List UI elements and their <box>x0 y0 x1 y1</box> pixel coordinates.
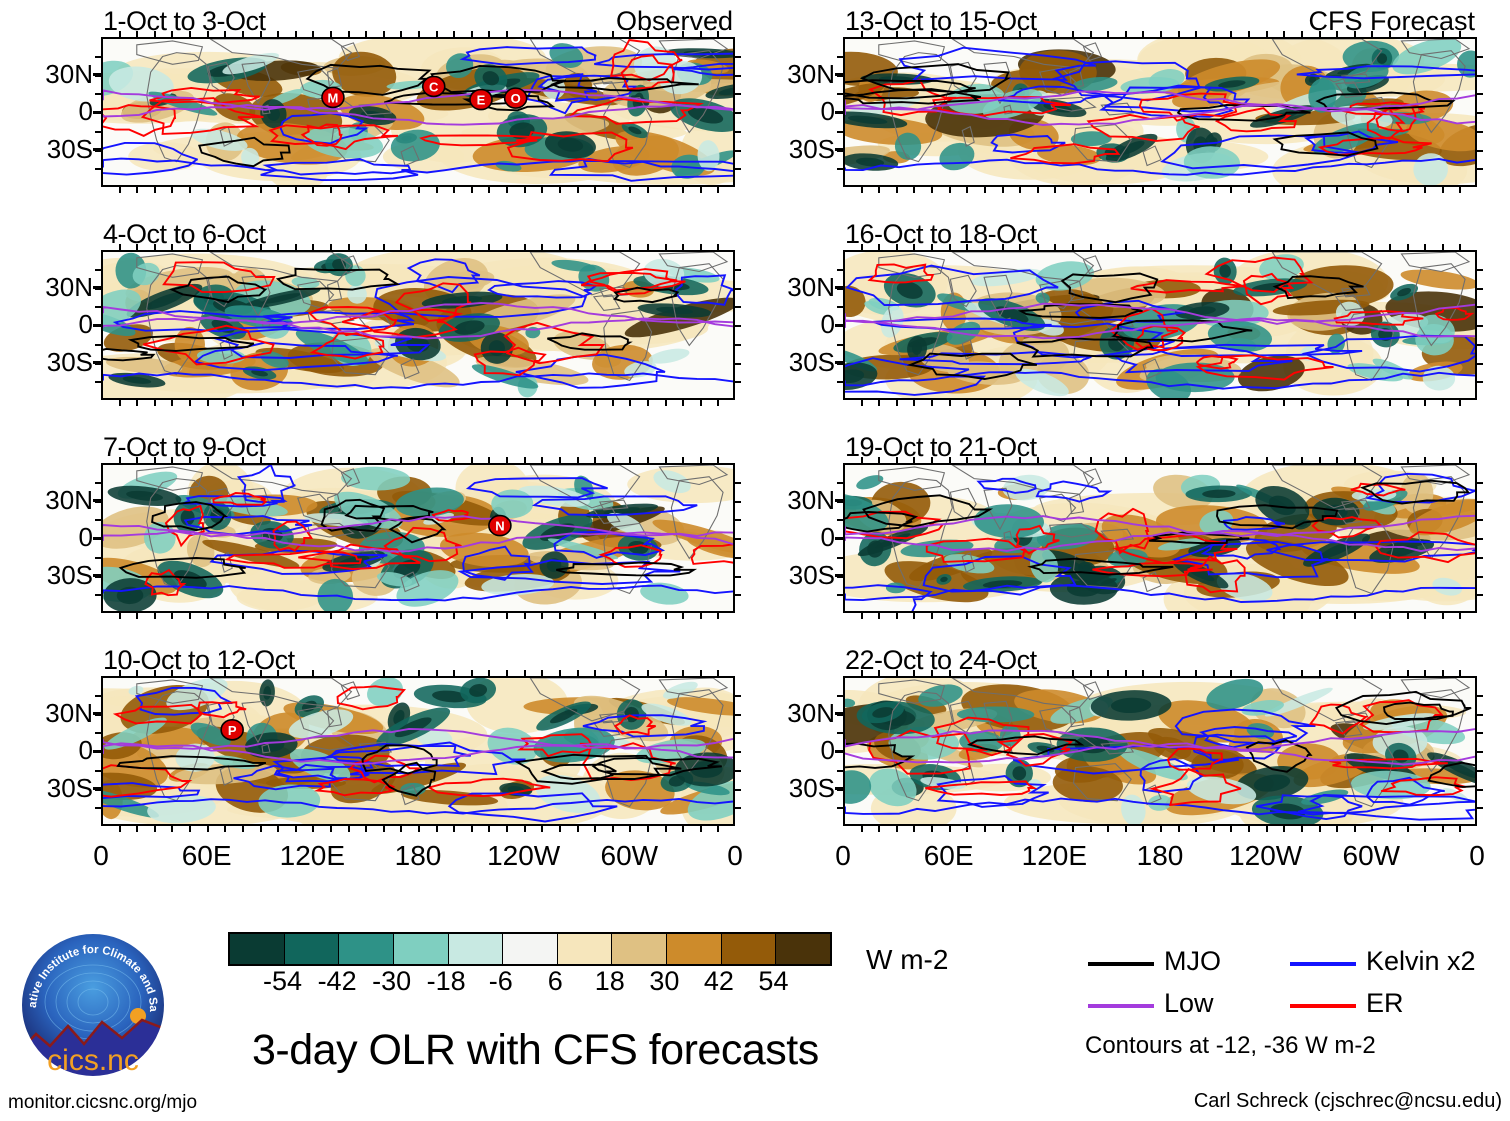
panel-title-8: 22-Oct to 24-Oct <box>845 645 1037 676</box>
panel-title-4: 10-Oct to 12-Oct <box>103 645 295 676</box>
y-minor-tick <box>837 714 843 716</box>
x-minor-tick <box>931 187 933 193</box>
x-minor-tick <box>577 613 579 619</box>
x-minor-tick <box>1389 457 1391 463</box>
x-minor-tick <box>348 457 350 463</box>
x-minor-tick <box>665 244 667 250</box>
x-minor-tick <box>1195 670 1197 676</box>
y-minor-tick <box>735 807 741 809</box>
y-minor-tick <box>1477 93 1483 95</box>
x-minor-tick <box>682 826 684 832</box>
panel-title-6: 16-Oct to 18-Oct <box>845 219 1037 250</box>
x-minor-tick <box>1072 400 1074 406</box>
y-minor-tick <box>95 482 101 484</box>
x-minor-tick <box>136 613 138 619</box>
x-minor-tick <box>436 457 438 463</box>
x-minor-tick <box>348 826 350 832</box>
x-minor-tick <box>1336 613 1338 619</box>
x-minor-tick <box>1371 613 1373 619</box>
x-minor-tick <box>984 400 986 406</box>
x-minor-tick <box>1371 400 1373 406</box>
x-minor-tick <box>1090 457 1092 463</box>
x-minor-tick <box>896 244 898 250</box>
y-tick-label-30N: 30N <box>9 59 93 90</box>
x-minor-tick <box>647 187 649 193</box>
x-minor-tick <box>1389 400 1391 406</box>
map-panel-1: MCEO <box>101 37 735 187</box>
x-minor-tick <box>1301 187 1303 193</box>
x-minor-tick <box>207 187 209 193</box>
x-minor-tick <box>1407 187 1409 193</box>
x-minor-tick <box>1354 187 1356 193</box>
map-panel-2 <box>101 250 735 400</box>
x-minor-tick <box>436 400 438 406</box>
x-minor-tick <box>488 244 490 250</box>
x-minor-tick <box>1213 613 1215 619</box>
x-minor-tick <box>365 826 367 832</box>
x-minor-tick <box>1283 613 1285 619</box>
x-minor-tick <box>1090 400 1092 406</box>
x-minor-tick <box>896 670 898 676</box>
x-minor-tick <box>136 826 138 832</box>
x-minor-tick <box>418 457 420 463</box>
y-minor-tick <box>735 75 741 77</box>
x-minor-tick <box>700 670 702 676</box>
x-minor-tick <box>312 244 314 250</box>
y-minor-tick <box>95 150 101 152</box>
x-tick-label-left-0: 0 <box>41 840 161 872</box>
x-minor-tick <box>400 400 402 406</box>
y-minor-tick <box>837 557 843 559</box>
y-tick-label-0: 0 <box>9 309 93 340</box>
x-minor-tick <box>541 457 543 463</box>
legend-swatch-low <box>1088 1004 1154 1008</box>
x-minor-tick <box>418 826 420 832</box>
x-minor-tick <box>1195 613 1197 619</box>
colorbar-swatch-10 <box>775 934 830 964</box>
x-minor-tick <box>453 613 455 619</box>
y-tick-label-30S: 30S <box>9 134 93 165</box>
x-minor-tick <box>896 457 898 463</box>
x-minor-tick <box>1336 187 1338 193</box>
x-tick-label-left-6: 0 <box>675 840 795 872</box>
y-minor-tick <box>837 344 843 346</box>
x-minor-tick <box>1142 826 1144 832</box>
y-minor-tick <box>95 93 101 95</box>
x-minor-tick <box>717 826 719 832</box>
x-minor-tick <box>1054 457 1056 463</box>
x-minor-tick <box>365 187 367 193</box>
x-minor-tick <box>577 826 579 832</box>
x-minor-tick <box>1072 457 1074 463</box>
x-minor-tick <box>418 244 420 250</box>
y-minor-tick <box>1477 519 1483 521</box>
x-minor-tick <box>612 187 614 193</box>
x-minor-tick <box>1019 670 1021 676</box>
x-minor-tick <box>277 670 279 676</box>
x-minor-tick <box>700 400 702 406</box>
footer-url[interactable]: monitor.cicsnc.org/mjo <box>8 1092 197 1114</box>
x-minor-tick <box>471 187 473 193</box>
x-minor-tick <box>1442 187 1444 193</box>
x-minor-tick <box>1195 400 1197 406</box>
x-minor-tick <box>1213 244 1215 250</box>
x-minor-tick <box>436 613 438 619</box>
y-minor-tick <box>1477 306 1483 308</box>
x-minor-tick <box>1072 670 1074 676</box>
x-minor-tick <box>1266 244 1268 250</box>
y-tick-label-30S: 30S <box>9 347 93 378</box>
x-minor-tick <box>154 826 156 832</box>
y-minor-tick <box>735 695 741 697</box>
x-minor-tick <box>1195 457 1197 463</box>
x-minor-tick <box>1125 457 1127 463</box>
x-minor-tick <box>1125 244 1127 250</box>
x-minor-tick <box>559 187 561 193</box>
x-minor-tick <box>1230 670 1232 676</box>
colorbar <box>228 932 832 966</box>
x-minor-tick <box>1090 187 1092 193</box>
y-tick-label-30S: 30S <box>751 773 835 804</box>
y-minor-tick <box>837 751 843 753</box>
x-minor-tick <box>1459 457 1461 463</box>
x-minor-tick <box>383 826 385 832</box>
x-minor-tick <box>1336 457 1338 463</box>
colorbar-swatch-4 <box>448 934 503 964</box>
y-minor-tick <box>837 594 843 596</box>
y-minor-tick <box>95 269 101 271</box>
y-minor-tick <box>735 269 741 271</box>
x-minor-tick <box>524 826 526 832</box>
x-minor-tick <box>1407 613 1409 619</box>
x-minor-tick <box>154 187 156 193</box>
x-minor-tick <box>171 457 173 463</box>
colorbar-swatch-5 <box>502 934 557 964</box>
svg-text:O: O <box>511 91 521 106</box>
x-minor-tick <box>1002 400 1004 406</box>
x-tick-label-right-3: 180 <box>1100 840 1220 872</box>
x-minor-tick <box>207 826 209 832</box>
x-minor-tick <box>1160 244 1162 250</box>
x-minor-tick <box>717 244 719 250</box>
x-minor-tick <box>896 400 898 406</box>
x-minor-tick <box>878 826 880 832</box>
x-minor-tick <box>1266 826 1268 832</box>
x-minor-tick <box>647 670 649 676</box>
x-minor-tick <box>189 826 191 832</box>
x-minor-tick <box>260 826 262 832</box>
x-minor-tick <box>665 670 667 676</box>
y-minor-tick <box>837 288 843 290</box>
colorbar-swatch-2 <box>338 934 393 964</box>
x-minor-tick <box>931 826 933 832</box>
x-minor-tick <box>242 187 244 193</box>
x-minor-tick <box>1178 244 1180 250</box>
y-tick-label-30S: 30S <box>751 134 835 165</box>
x-minor-tick <box>295 244 297 250</box>
x-minor-tick <box>524 187 526 193</box>
x-minor-tick <box>1266 400 1268 406</box>
y-minor-tick <box>95 732 101 734</box>
x-minor-tick <box>1142 613 1144 619</box>
svg-text:C: C <box>429 79 439 94</box>
y-minor-tick <box>837 325 843 327</box>
x-minor-tick <box>1142 244 1144 250</box>
x-minor-tick <box>1389 670 1391 676</box>
x-minor-tick <box>1336 244 1338 250</box>
map-panel-6 <box>843 250 1477 400</box>
x-minor-tick <box>242 670 244 676</box>
x-minor-tick <box>665 826 667 832</box>
x-minor-tick <box>400 826 402 832</box>
y-minor-tick <box>735 288 741 290</box>
x-minor-tick <box>1354 670 1356 676</box>
x-minor-tick <box>224 613 226 619</box>
x-minor-tick <box>665 187 667 193</box>
x-minor-tick <box>224 400 226 406</box>
x-minor-tick <box>1319 613 1321 619</box>
x-minor-tick <box>966 400 968 406</box>
x-minor-tick <box>224 826 226 832</box>
x-minor-tick <box>1424 244 1426 250</box>
x-minor-tick <box>1195 826 1197 832</box>
x-minor-tick <box>1160 826 1162 832</box>
x-minor-tick <box>1230 457 1232 463</box>
x-minor-tick <box>453 244 455 250</box>
y-tick-label-0: 0 <box>9 735 93 766</box>
x-minor-tick <box>861 244 863 250</box>
x-minor-tick <box>896 613 898 619</box>
x-minor-tick <box>1230 826 1232 832</box>
x-minor-tick <box>154 670 156 676</box>
x-minor-tick <box>1371 457 1373 463</box>
x-minor-tick <box>1301 670 1303 676</box>
x-minor-tick <box>1054 400 1056 406</box>
x-minor-tick <box>559 670 561 676</box>
x-minor-tick <box>1354 400 1356 406</box>
x-minor-tick <box>189 244 191 250</box>
y-minor-tick <box>1477 168 1483 170</box>
x-minor-tick <box>365 457 367 463</box>
x-minor-tick <box>1354 244 1356 250</box>
x-minor-tick <box>488 670 490 676</box>
y-minor-tick <box>837 381 843 383</box>
x-minor-tick <box>1072 187 1074 193</box>
y-minor-tick <box>1477 594 1483 596</box>
x-minor-tick <box>861 187 863 193</box>
x-minor-tick <box>1002 613 1004 619</box>
x-minor-tick <box>471 826 473 832</box>
x-minor-tick <box>471 613 473 619</box>
x-minor-tick <box>330 826 332 832</box>
map-panel-8 <box>843 676 1477 826</box>
x-minor-tick <box>861 613 863 619</box>
x-minor-tick <box>559 457 561 463</box>
x-minor-tick <box>1230 187 1232 193</box>
x-minor-tick <box>365 244 367 250</box>
y-minor-tick <box>95 770 101 772</box>
y-tick-label-30S: 30S <box>751 560 835 591</box>
x-minor-tick <box>577 457 579 463</box>
y-minor-tick <box>1477 789 1483 791</box>
y-minor-tick <box>837 732 843 734</box>
y-minor-tick <box>735 519 741 521</box>
x-minor-tick <box>1301 826 1303 832</box>
legend-contour-note: Contours at -12, -36 W m-2 <box>1085 1032 1376 1060</box>
y-minor-tick <box>735 168 741 170</box>
x-minor-tick <box>594 826 596 832</box>
x-minor-tick <box>1371 244 1373 250</box>
x-minor-tick <box>1442 457 1444 463</box>
y-minor-tick <box>95 325 101 327</box>
y-minor-tick <box>837 56 843 58</box>
x-minor-tick <box>717 400 719 406</box>
x-minor-tick <box>541 670 543 676</box>
y-minor-tick <box>735 306 741 308</box>
x-minor-tick <box>154 244 156 250</box>
colorbar-swatch-8 <box>666 934 721 964</box>
y-minor-tick <box>837 501 843 503</box>
y-minor-tick <box>735 381 741 383</box>
x-tick-label-left-5: 60W <box>569 840 689 872</box>
cics-nc-logo: Cooperative Institute for Climate and Sa… <box>18 930 168 1080</box>
x-minor-tick <box>524 400 526 406</box>
y-tick-label-30N: 30N <box>9 485 93 516</box>
x-minor-tick <box>1107 457 1109 463</box>
y-minor-tick <box>95 789 101 791</box>
x-minor-tick <box>1389 244 1391 250</box>
x-minor-tick <box>295 187 297 193</box>
x-minor-tick <box>418 613 420 619</box>
y-minor-tick <box>95 306 101 308</box>
x-minor-tick <box>612 670 614 676</box>
y-tick-label-30N: 30N <box>9 272 93 303</box>
y-tick-label-0: 0 <box>9 96 93 127</box>
x-minor-tick <box>136 400 138 406</box>
x-minor-tick <box>1072 244 1074 250</box>
x-minor-tick <box>700 244 702 250</box>
x-minor-tick <box>171 400 173 406</box>
x-minor-tick <box>295 457 297 463</box>
legend-swatch-kelvin-x2 <box>1290 962 1356 966</box>
x-minor-tick <box>1142 457 1144 463</box>
y-minor-tick <box>95 112 101 114</box>
x-minor-tick <box>949 826 951 832</box>
x-minor-tick <box>717 670 719 676</box>
y-minor-tick <box>95 594 101 596</box>
x-minor-tick <box>682 613 684 619</box>
x-minor-tick <box>559 826 561 832</box>
x-minor-tick <box>1037 670 1039 676</box>
x-minor-tick <box>400 670 402 676</box>
y-minor-tick <box>837 538 843 540</box>
x-minor-tick <box>1283 670 1285 676</box>
y-minor-tick <box>1477 112 1483 114</box>
x-minor-tick <box>541 400 543 406</box>
y-minor-tick <box>1477 344 1483 346</box>
x-minor-tick <box>400 244 402 250</box>
colorbar-swatch-6 <box>557 934 612 964</box>
map-panel-3: N <box>101 463 735 613</box>
x-minor-tick <box>1283 400 1285 406</box>
x-tick-label-left-4: 120W <box>464 840 584 872</box>
y-minor-tick <box>95 363 101 365</box>
x-minor-tick <box>949 400 951 406</box>
x-minor-tick <box>594 613 596 619</box>
x-minor-tick <box>1407 670 1409 676</box>
x-minor-tick <box>1019 457 1021 463</box>
colorbar-swatch-0 <box>230 934 284 964</box>
footer-author[interactable]: Carl Schreck (cjschrec@ncsu.edu) <box>1194 1090 1502 1113</box>
y-minor-tick <box>95 344 101 346</box>
colorbar-swatch-3 <box>393 934 448 964</box>
x-minor-tick <box>506 613 508 619</box>
x-minor-tick <box>717 457 719 463</box>
x-minor-tick <box>1354 613 1356 619</box>
y-tick-label-30S: 30S <box>751 347 835 378</box>
x-minor-tick <box>348 244 350 250</box>
x-minor-tick <box>348 670 350 676</box>
x-minor-tick <box>1319 457 1321 463</box>
x-minor-tick <box>1037 244 1039 250</box>
x-minor-tick <box>242 457 244 463</box>
x-minor-tick <box>488 613 490 619</box>
y-minor-tick <box>735 557 741 559</box>
x-minor-tick <box>1107 826 1109 832</box>
x-minor-tick <box>1407 826 1409 832</box>
x-minor-tick <box>1213 670 1215 676</box>
x-minor-tick <box>577 244 579 250</box>
x-minor-tick <box>931 613 933 619</box>
x-minor-tick <box>682 670 684 676</box>
y-minor-tick <box>95 168 101 170</box>
x-minor-tick <box>189 670 191 676</box>
x-minor-tick <box>453 826 455 832</box>
y-minor-tick <box>837 807 843 809</box>
x-minor-tick <box>1230 613 1232 619</box>
x-minor-tick <box>878 244 880 250</box>
x-minor-tick <box>1054 244 1056 250</box>
x-minor-tick <box>383 457 385 463</box>
x-minor-tick <box>966 670 968 676</box>
x-minor-tick <box>1389 826 1391 832</box>
x-minor-tick <box>700 187 702 193</box>
legend-label-er: ER <box>1366 988 1404 1019</box>
x-minor-tick <box>1178 457 1180 463</box>
x-minor-tick <box>1213 400 1215 406</box>
x-minor-tick <box>524 613 526 619</box>
x-minor-tick <box>189 457 191 463</box>
x-minor-tick <box>541 826 543 832</box>
x-minor-tick <box>1424 457 1426 463</box>
x-minor-tick <box>136 457 138 463</box>
y-minor-tick <box>735 363 741 365</box>
x-minor-tick <box>1090 613 1092 619</box>
x-minor-tick <box>1442 826 1444 832</box>
x-minor-tick <box>682 244 684 250</box>
x-minor-tick <box>612 400 614 406</box>
y-tick-label-0: 0 <box>751 96 835 127</box>
y-minor-tick <box>735 751 741 753</box>
x-minor-tick <box>488 187 490 193</box>
x-minor-tick <box>966 187 968 193</box>
x-minor-tick <box>453 187 455 193</box>
x-minor-tick <box>1142 400 1144 406</box>
x-minor-tick <box>471 457 473 463</box>
x-minor-tick <box>717 187 719 193</box>
x-minor-tick <box>665 457 667 463</box>
x-minor-tick <box>277 244 279 250</box>
